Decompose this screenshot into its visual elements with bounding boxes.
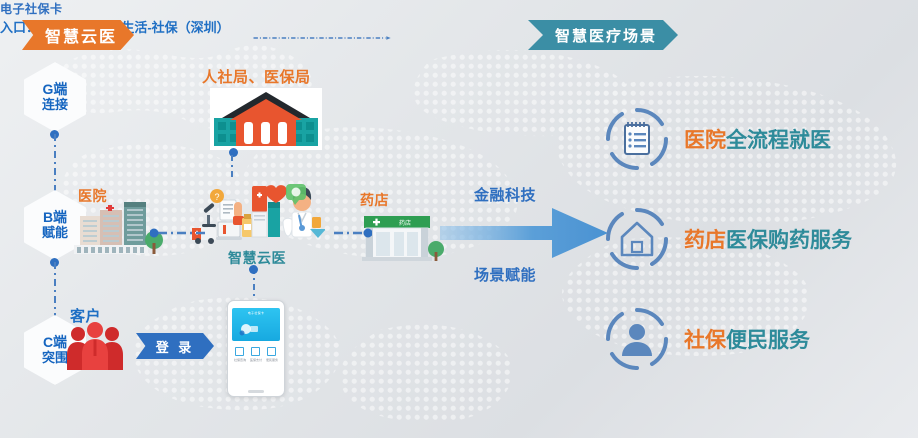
vertical-connector-2 bbox=[54, 262, 56, 317]
pharmacy-building-icon: 药店 bbox=[360, 206, 444, 262]
login-button[interactable]: 登 录 bbox=[136, 333, 214, 359]
right-banner: 智慧医疗场景 bbox=[528, 20, 678, 50]
scene-rest: 全流程就医 bbox=[726, 129, 831, 152]
gov-label: 人社局、医保局 bbox=[202, 66, 311, 87]
customers-group-icon bbox=[66, 322, 124, 370]
phone-home-indicator bbox=[248, 390, 264, 393]
tile-icon bbox=[235, 347, 244, 356]
sidebar-node-b-line2: 赋能 bbox=[42, 226, 68, 241]
flow-arrow bbox=[440, 196, 608, 268]
phone-tile[interactable]: 便民服务 bbox=[266, 347, 278, 362]
scene-highlight: 社保 bbox=[684, 329, 726, 352]
phone-tile-label: 社保查询 bbox=[234, 358, 246, 362]
phone-hero-title: 电子社保卡 bbox=[248, 311, 265, 315]
notepad-icon bbox=[604, 106, 670, 172]
scene-label-hospital: 医院全流程就医 bbox=[684, 124, 831, 154]
tile-icon bbox=[251, 347, 260, 356]
horizontal-connector-right bbox=[330, 228, 372, 238]
scene-highlight: 药店 bbox=[684, 229, 726, 252]
hospital-building-icon bbox=[72, 196, 164, 258]
phone-tile[interactable]: 社保查询 bbox=[234, 347, 246, 362]
horizontal-connector-left bbox=[150, 228, 205, 238]
right-banner-label: 智慧医疗场景 bbox=[555, 25, 657, 46]
scene-rest: 便民服务 bbox=[726, 329, 810, 352]
scene-label-social-security: 社保便民服务 bbox=[684, 324, 810, 354]
sidebar-node-g-line2: 连接 bbox=[42, 98, 68, 113]
entry-caption: 入口：手机银行-悦享生活-社保（深圳） bbox=[0, 17, 918, 36]
scene-row-social-security[interactable]: 社保便民服务 bbox=[604, 302, 904, 376]
scene-highlight: 医院 bbox=[684, 129, 726, 152]
pharmacy-house-icon bbox=[604, 206, 670, 272]
sidebar-node-g-line1: G端 bbox=[43, 81, 68, 97]
connector-dot-phone bbox=[249, 265, 258, 274]
smart-medical-illustration: ? bbox=[190, 172, 325, 248]
first-aid-kit-icon bbox=[252, 186, 267, 237]
scene-label-pharmacy: 药店医保购药服务 bbox=[684, 224, 852, 254]
top-dashdot-connector bbox=[150, 36, 495, 40]
microscope-icon bbox=[202, 203, 216, 227]
sidebar-node-b-line1: B端 bbox=[43, 209, 67, 225]
government-building-icon bbox=[210, 88, 322, 150]
phone-tile-label: 医保支付 bbox=[250, 358, 262, 362]
sidebar-node-c-line1: C端 bbox=[43, 334, 67, 350]
scene-rest: 医保购药服务 bbox=[726, 229, 852, 252]
person-icon bbox=[604, 306, 670, 372]
phone-tile[interactable]: 医保支付 bbox=[250, 347, 262, 362]
left-banner-label: 智慧云医 bbox=[45, 23, 117, 47]
sidebar-node-g[interactable]: G端 连接 bbox=[24, 62, 86, 132]
scene-row-pharmacy[interactable]: 药店医保购药服务 bbox=[604, 202, 904, 276]
phone-hero-art bbox=[238, 321, 260, 337]
svg-text:药店: 药店 bbox=[399, 219, 411, 227]
platform-label: 智慧云医 bbox=[228, 248, 286, 268]
phone-mockup[interactable]: 电子社保卡 社保查询 医保支付 便民服务 bbox=[227, 300, 285, 397]
login-button-label: 登 录 bbox=[156, 337, 195, 356]
phone-hero-banner: 电子社保卡 bbox=[232, 308, 280, 341]
left-banner: 智慧云医 bbox=[22, 20, 134, 50]
phone-tile-label: 便民服务 bbox=[266, 358, 278, 362]
ecard-label: 电子社保卡 bbox=[0, 0, 918, 17]
tile-icon bbox=[267, 347, 276, 356]
phone-tiles: 社保查询 医保支付 便民服务 bbox=[232, 347, 280, 362]
svg-text:?: ? bbox=[214, 192, 219, 202]
vertical-connector-gov bbox=[230, 155, 234, 177]
vertical-connector-1 bbox=[54, 134, 56, 192]
sidebar-node-c-line2: 突围 bbox=[42, 351, 68, 366]
heart-icon bbox=[265, 185, 287, 203]
scene-row-hospital[interactable]: 医院全流程就医 bbox=[604, 102, 904, 176]
